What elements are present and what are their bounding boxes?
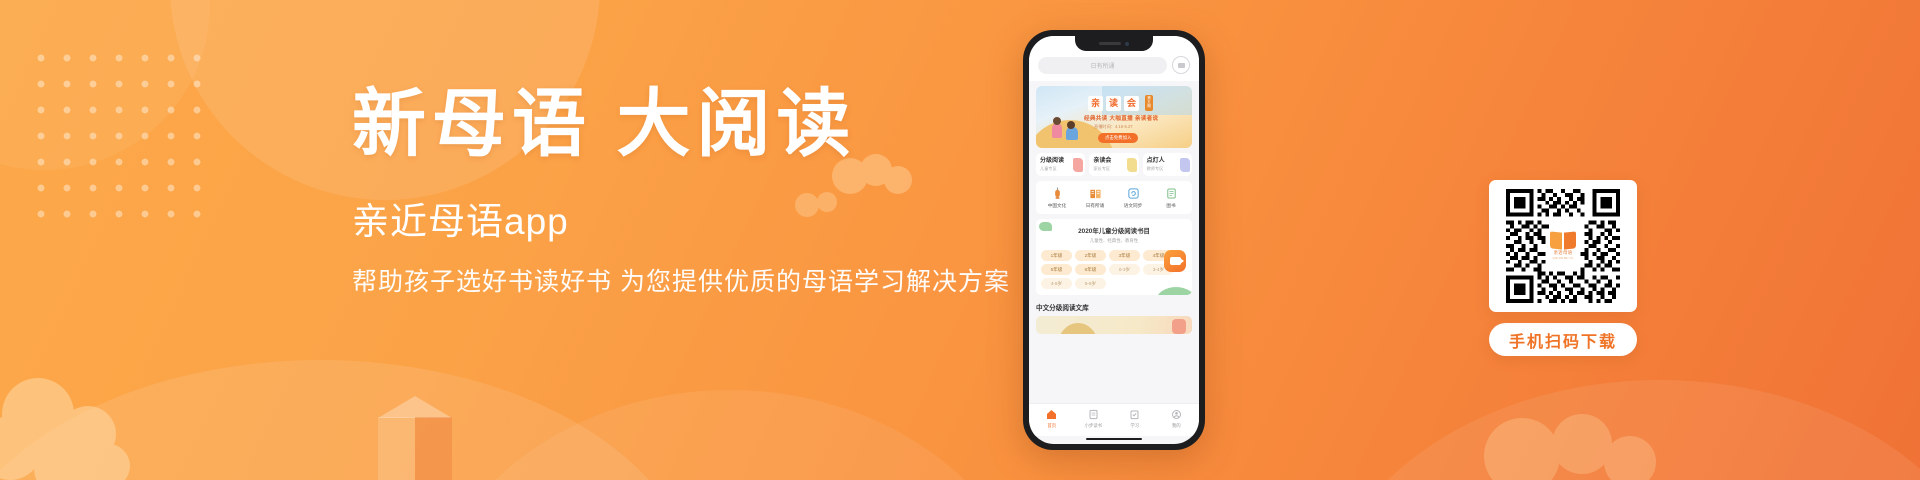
grade-tag-grid: 1年级 2年级 3年级 4年级 5年级 6年级 0-3岁 3-4岁 4-5岁 5… [1041, 250, 1187, 289]
quick-icon-label: 语文同步 [1124, 203, 1142, 209]
promo-card[interactable]: 亲 读 会 第五期 经典共读 大咖直播 亲读者说 直播时间：4.16-5.27 … [1036, 86, 1192, 148]
grade-tag[interactable]: 1年级 [1041, 250, 1072, 261]
ribbon-icon [1073, 158, 1083, 172]
quick-icon-item[interactable]: 日有所诵 [1076, 187, 1114, 209]
tab-profile[interactable]: 我的 [1156, 409, 1198, 429]
leaf-icon [1039, 222, 1052, 231]
home-indicator [1086, 438, 1142, 441]
quick-icon-item[interactable]: 图书 [1152, 187, 1190, 209]
grade-tag[interactable]: 6年级 [1075, 264, 1106, 275]
promo-title-char: 会 [1124, 96, 1139, 111]
video-play-button[interactable] [1164, 250, 1186, 272]
app-name: 亲近母语app [352, 202, 1032, 243]
booklist-title: 2020年儿童分级阅读书目 [1041, 226, 1187, 235]
promo-title-char: 读 [1106, 96, 1121, 111]
page-title: 新母语 大阅读 [352, 88, 1032, 162]
category-cards: 分级阅读 儿童专区 亲读会 家长专区 点灯人 教师专区 [1036, 153, 1192, 176]
banner-tagline: 帮助孩子选好书读好书 为您提供优质的母语学习解决方案 [352, 267, 1032, 297]
decorative-cube [378, 396, 452, 480]
category-card[interactable]: 点灯人 教师专区 [1143, 153, 1192, 176]
booklist-card: 2020年儿童分级阅读书目 儿童性、经典性、教育性 1年级 2年级 3年级 4年… [1036, 219, 1192, 295]
tab-label: 学习 [1130, 423, 1139, 429]
decorative-dot-grid [28, 45, 218, 225]
books-icon [1165, 187, 1178, 200]
phone-notch [1075, 36, 1153, 51]
category-card[interactable]: 亲读会 家长专区 [1089, 153, 1138, 176]
library-card[interactable] [1036, 316, 1192, 334]
phone-screen: 日有所诵 亲 读 会 第五期 经典共读 大咖直播 亲读者说 [1029, 36, 1199, 444]
promo-date: 直播时间：4.16-5.27 [1094, 124, 1133, 130]
quick-icon-label: 图书 [1166, 203, 1175, 209]
message-icon[interactable] [1172, 56, 1190, 74]
tab-home[interactable]: 首页 [1031, 409, 1073, 429]
brand-name-en: QIN JIN MU YU [1553, 257, 1574, 260]
tab-label: 首页 [1047, 423, 1056, 429]
quick-icon-row: 中国文化 日有所诵 语文同步 [1036, 181, 1192, 214]
lantern-icon [1051, 187, 1064, 200]
clipboard-icon [1129, 409, 1140, 420]
book-open-icon [1089, 187, 1102, 200]
cloud-icon [1462, 386, 1672, 480]
category-card[interactable]: 分级阅读 儿童专区 [1036, 153, 1085, 176]
reading-icon [1088, 409, 1099, 420]
tab-label: 小步读书 [1084, 423, 1102, 429]
age-tag[interactable]: 0-3岁 [1109, 264, 1140, 275]
grade-tag[interactable]: 3年级 [1109, 250, 1140, 261]
promo-title: 亲 读 会 第五期 [1088, 95, 1153, 111]
age-tag[interactable]: 4-5岁 [1041, 278, 1072, 289]
ribbon-icon [1127, 158, 1137, 172]
brand-logo: 亲近母语 QIN JIN MU YU [1546, 230, 1580, 262]
qr-code-image: 亲近母语 QIN JIN MU YU [1506, 189, 1620, 303]
tab-label: 我的 [1172, 423, 1181, 429]
brand-name: 亲近母语 [1554, 250, 1573, 256]
home-icon [1046, 409, 1057, 420]
quick-icon-label: 日有所诵 [1086, 203, 1104, 209]
promo-title-char: 亲 [1088, 96, 1103, 111]
app-content: 亲 读 会 第五期 经典共读 大咖直播 亲读者说 直播时间：4.16-5.27 … [1029, 81, 1199, 403]
age-tag[interactable]: 5-6岁 [1075, 278, 1106, 289]
grade-tag[interactable]: 2年级 [1075, 250, 1106, 261]
booklist-subtitle: 儿童性、经典性、教育性 [1041, 238, 1187, 244]
download-button[interactable]: 手机扫码下载 [1489, 323, 1637, 356]
promo-banner: 新母语 大阅读 亲近母语app 帮助孩子选好书读好书 为您提供优质的母语学习解决… [0, 0, 1920, 480]
promo-badge: 第五期 [1145, 95, 1153, 111]
cloud-icon [0, 356, 180, 480]
bottom-tabbar: 首页 小步读书 学习 [1029, 403, 1199, 436]
user-icon [1171, 409, 1182, 420]
banner-copy: 新母语 大阅读 亲近母语app 帮助孩子选好书读好书 为您提供优质的母语学习解决… [352, 88, 1032, 297]
tab-reading[interactable]: 小步读书 [1073, 409, 1115, 429]
qr-card: 亲近母语 QIN JIN MU YU [1489, 180, 1637, 312]
sync-icon [1127, 187, 1140, 200]
search-bar[interactable]: 日有所诵 [1038, 56, 1190, 74]
quick-icon-item[interactable]: 中国文化 [1038, 187, 1076, 209]
promo-join-button[interactable]: 点击免费加入 [1098, 133, 1138, 143]
phone-mockup: 日有所诵 亲 读 会 第五期 经典共读 大咖直播 亲读者说 [1023, 30, 1205, 450]
search-input[interactable]: 日有所诵 [1038, 57, 1167, 74]
tab-study[interactable]: 学习 [1114, 409, 1156, 429]
quick-icon-label: 中国文化 [1048, 203, 1066, 209]
ribbon-icon [1180, 158, 1190, 172]
qr-download-block: 亲近母语 QIN JIN MU YU 手机扫码下载 [1489, 180, 1637, 356]
quick-icon-item[interactable]: 语文同步 [1114, 187, 1152, 209]
promo-subtitle: 经典共读 大咖直播 亲读者说 [1084, 114, 1158, 122]
library-section-title: 中文分级阅读文库 [1036, 302, 1192, 312]
grade-tag[interactable]: 5年级 [1041, 264, 1072, 275]
book-logo-icon [1550, 232, 1576, 249]
